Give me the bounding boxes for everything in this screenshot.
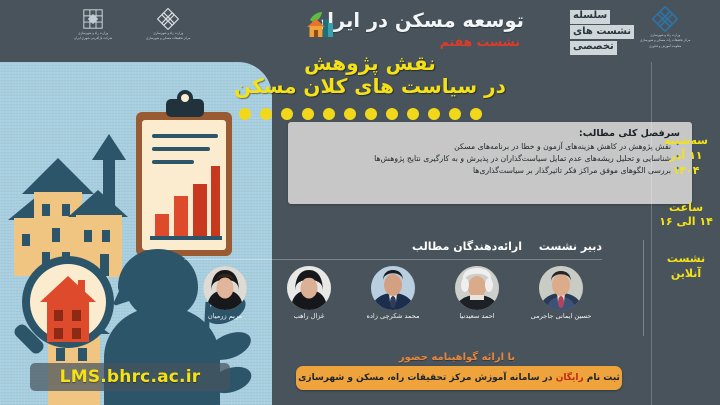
dot: [344, 108, 356, 120]
logo-caption-2: مرکز تحقیقات راه، مسکن و شهرسازی: [640, 38, 690, 42]
person-name: احمد سعیدنیا: [459, 313, 494, 321]
sessions-line-2: نشست های: [570, 25, 634, 39]
logo-caption: وزارت راه و شهرسازی: [78, 31, 108, 35]
event-mode: نشست آنلاین: [667, 252, 705, 282]
interlocking-diamond-logo-icon-blue: [652, 6, 678, 32]
dot: [365, 108, 377, 120]
dot: [407, 108, 419, 120]
topic-item: شناسایی و تحلیل ریشه‌های عدم تمایل سیاست…: [300, 154, 680, 165]
date-year: ۱۴۰۴: [664, 164, 708, 179]
event-info-sidebar: سه‌شنبه ۱۱ آذر ۱۴۰۴ ساعت ۱۴ الی ۱۶ نشست …: [652, 62, 720, 405]
person-name: محمد شکرچی زاده: [366, 313, 419, 321]
topics-title: سرفصل کلی مطالب:: [300, 128, 680, 139]
registration-text: ثبت نام رایگان در سامانه آموزش مرکز تحقی…: [298, 373, 620, 383]
topics-list: نقش پژوهش در کاهش هزینه‌های آزمون و خطا …: [300, 142, 680, 177]
dot: [323, 108, 335, 120]
logo-caption-3: معاونت آموزش و فناوری: [649, 44, 681, 48]
secretary-heading: دبیر نشست: [539, 240, 602, 253]
section-divider-vertical: [643, 240, 644, 336]
person-name: حسین ایمانی جاجرمی: [531, 313, 592, 321]
headline-line-1: نقش پژوهش: [160, 52, 580, 74]
presenters-heading: ارائه‌دهندگان مطالب: [412, 240, 522, 253]
event-date: سه‌شنبه ۱۱ آذر ۱۴۰۴: [664, 134, 708, 179]
registration-banner[interactable]: ثبت نام رایگان در سامانه آموزش مرکز تحقی…: [296, 366, 622, 390]
person-name: غزال راهب: [294, 313, 325, 321]
person-card: محمد شکرچی زاده: [356, 266, 430, 336]
dot: [449, 108, 461, 120]
time-label: ساعت: [659, 201, 713, 216]
logo-urban-regeneration: وزارت راه و شهرسازی شرکت بازآفرینی شهری …: [74, 8, 112, 41]
avatar: [287, 266, 331, 310]
sessions-line-1: سلسله: [570, 10, 610, 24]
decorative-dot-row: [180, 108, 540, 120]
brand-title: توسعه مسکن در ایران: [311, 9, 524, 32]
poster-canvas: وزارت راه و شهرسازی شرکت بازآفرینی شهری …: [0, 0, 720, 405]
avatar: [455, 266, 499, 310]
time-value: ۱۴ الی ۱۶: [659, 215, 713, 230]
registration-url-pill[interactable]: LMS.bhrc.ac.ir: [30, 363, 230, 391]
registration-prefix: ثبت نام: [587, 373, 620, 383]
house-leaf-brand-icon: [304, 8, 338, 42]
person-card: غزال راهب: [272, 266, 346, 336]
date-day-month: ۱۱ آذر: [664, 149, 708, 164]
logo-caption-2: مرکز تحقیقات مسکن و شهرسازی: [146, 36, 190, 40]
interlocking-diamond-logo-icon: [157, 8, 179, 30]
dot: [470, 108, 482, 120]
dot: [428, 108, 440, 120]
mode-line-2: آنلاین: [667, 267, 705, 282]
grid-diamond-logo-icon: [82, 8, 104, 30]
portrait-icon: [371, 266, 415, 310]
section-divider-horizontal: [184, 259, 602, 260]
logo-research-center-right: وزارت راه و شهرسازی مرکز تحقیقات راه، مس…: [640, 6, 690, 48]
portrait-icon: [455, 266, 499, 310]
dot: [260, 108, 272, 120]
topic-item: نقش پژوهش در کاهش هزینه‌های آزمون و خطا …: [300, 142, 680, 153]
logo-caption: وزارت راه و شهرسازی: [650, 33, 680, 37]
mode-line-1: نشست: [667, 252, 705, 267]
logo-caption-2: شرکت بازآفرینی شهری ایران: [74, 36, 112, 40]
avatar: [539, 266, 583, 310]
person-card: حسین ایمانی جاجرمی: [524, 266, 598, 336]
portrait-icon: [539, 266, 583, 310]
logo-caption: وزارت راه و شهرسازی: [153, 31, 183, 35]
section-headings: دبیر نشست ارائه‌دهندگان مطالب: [182, 240, 602, 258]
topic-item: بررسی الگوهای موفق مراکز فکر تاثیرگذار ب…: [300, 166, 680, 177]
people-row: حسین ایمانی جاجرمی احمد سعیدنیا: [188, 266, 598, 336]
dot: [281, 108, 293, 120]
person-card-secretary: مریم زرمیان: [188, 266, 262, 336]
headline-line-2: در سیاست های کلان مسکن: [160, 75, 580, 97]
registration-free-label: رایگان: [556, 373, 584, 383]
portrait-icon: [203, 266, 247, 310]
dot: [239, 108, 251, 120]
dot: [302, 108, 314, 120]
portrait-icon: [287, 266, 331, 310]
logo-research-center-left: وزارت راه و شهرسازی مرکز تحقیقات مسکن و …: [146, 8, 190, 41]
date-weekday: سه‌شنبه: [664, 134, 708, 149]
certificate-note: با ارائه گواهینامه حضور: [399, 352, 515, 363]
person-name: مریم زرمیان: [208, 313, 242, 321]
avatar: [371, 266, 415, 310]
person-card: احمد سعیدنیا: [440, 266, 514, 336]
session-number-label: نشست هفتم: [440, 34, 520, 49]
registration-suffix: در سامانه آموزش مرکز تحقیقات راه، مسکن و…: [298, 373, 552, 383]
topics-card: سرفصل کلی مطالب: نقش پژوهش در کاهش هزینه…: [288, 122, 692, 204]
registration-url: LMS.bhrc.ac.ir: [60, 367, 201, 387]
avatar: [203, 266, 247, 310]
main-headline: نقش پژوهش در سیاست های کلان مسکن: [160, 52, 580, 97]
dot: [386, 108, 398, 120]
event-time: ساعت ۱۴ الی ۱۶: [659, 201, 713, 231]
